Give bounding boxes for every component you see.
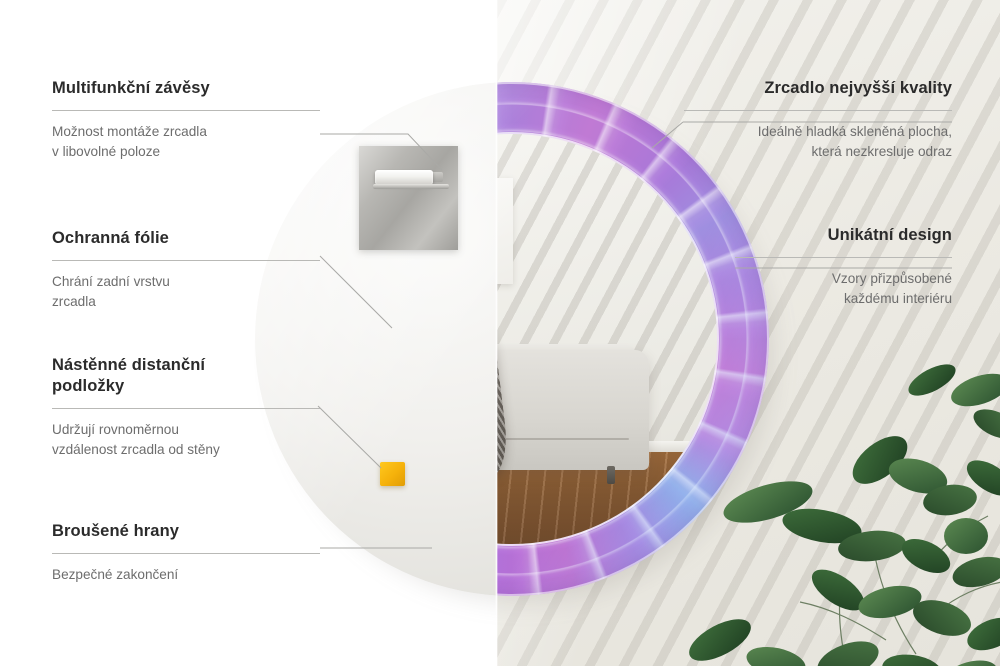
- callout-title: Unikátní design: [684, 225, 952, 246]
- callout-title: Ochranná fólie: [52, 228, 320, 249]
- callout-body: Ideálně hladká skleněná plocha, která ne…: [684, 122, 952, 163]
- callout-body-line2: vzdálenost zrcadla od stěny: [52, 442, 220, 457]
- callout-nastenne-distancni-podlozky: Nástěnné distanční podložky Udržují rovn…: [52, 355, 320, 461]
- callout-body-line1: Vzory přizpůsobené: [832, 271, 952, 286]
- callout-body-line2: zrcadla: [52, 294, 96, 309]
- callout-rule: [52, 260, 320, 261]
- callout-title-line1: Nástěnné distanční: [52, 356, 205, 374]
- callout-body: Možnost montáže zrcadla v libovolné polo…: [52, 122, 320, 163]
- callout-body-line1: Ideálně hladká skleněná plocha,: [758, 124, 952, 139]
- callout-body-line2: každému interiéru: [844, 291, 952, 306]
- decorative-plant-leaves: [680, 350, 1000, 666]
- callout-body: Vzory přizpůsobené každému interiéru: [684, 269, 952, 310]
- callout-brousene-hrany: Broušené hrany Bezpečné zakončení: [52, 521, 320, 585]
- hanger-lip: [373, 184, 449, 189]
- callout-rule: [52, 110, 320, 111]
- callout-body: Udržují rovnoměrnou vzdálenost zrcadla o…: [52, 420, 320, 461]
- yellow-spacer-pad: [380, 462, 405, 486]
- callout-body-line1: Udržují rovnoměrnou: [52, 422, 179, 437]
- callout-zrcadlo-nejvyssi-kvality: Zrcadlo nejvyšší kvality Ideálně hladká …: [684, 78, 952, 163]
- callout-rule: [52, 408, 320, 409]
- callout-body: Bezpečné zakončení: [52, 565, 320, 586]
- hanger-slot: [375, 170, 433, 185]
- split-divider-line: [495, 0, 498, 666]
- callout-multifunkcni-zavesy: Multifunkční závěsy Možnost montáže zrca…: [52, 78, 320, 163]
- hanger-plate: [359, 146, 458, 250]
- callout-title: Broušené hrany: [52, 521, 320, 542]
- callout-rule: [735, 257, 952, 258]
- callout-body-line1: Chrání zadní vrstvu: [52, 274, 170, 289]
- callout-title-line2: podložky: [52, 377, 124, 395]
- callout-ochranna-folie: Ochranná fólie Chrání zadní vrstvu zrcad…: [52, 228, 320, 313]
- callout-body-line1: Možnost montáže zrcadla: [52, 124, 207, 139]
- callout-rule: [684, 110, 952, 111]
- callout-title: Multifunkční závěsy: [52, 78, 320, 99]
- callout-title: Nástěnné distanční podložky: [52, 355, 320, 397]
- callout-rule: [52, 553, 320, 554]
- infographic-canvas: Multifunkční závěsy Možnost montáže zrca…: [0, 0, 1000, 666]
- callout-body: Chrání zadní vrstvu zrcadla: [52, 272, 320, 313]
- callout-title: Zrcadlo nejvyšší kvality: [684, 78, 952, 99]
- callout-body-line2: která nezkresluje odraz: [811, 144, 952, 159]
- callout-body-line2: v libovolné poloze: [52, 144, 160, 159]
- callout-unikatni-design: Unikátní design Vzory přizpůsobené každé…: [684, 225, 952, 310]
